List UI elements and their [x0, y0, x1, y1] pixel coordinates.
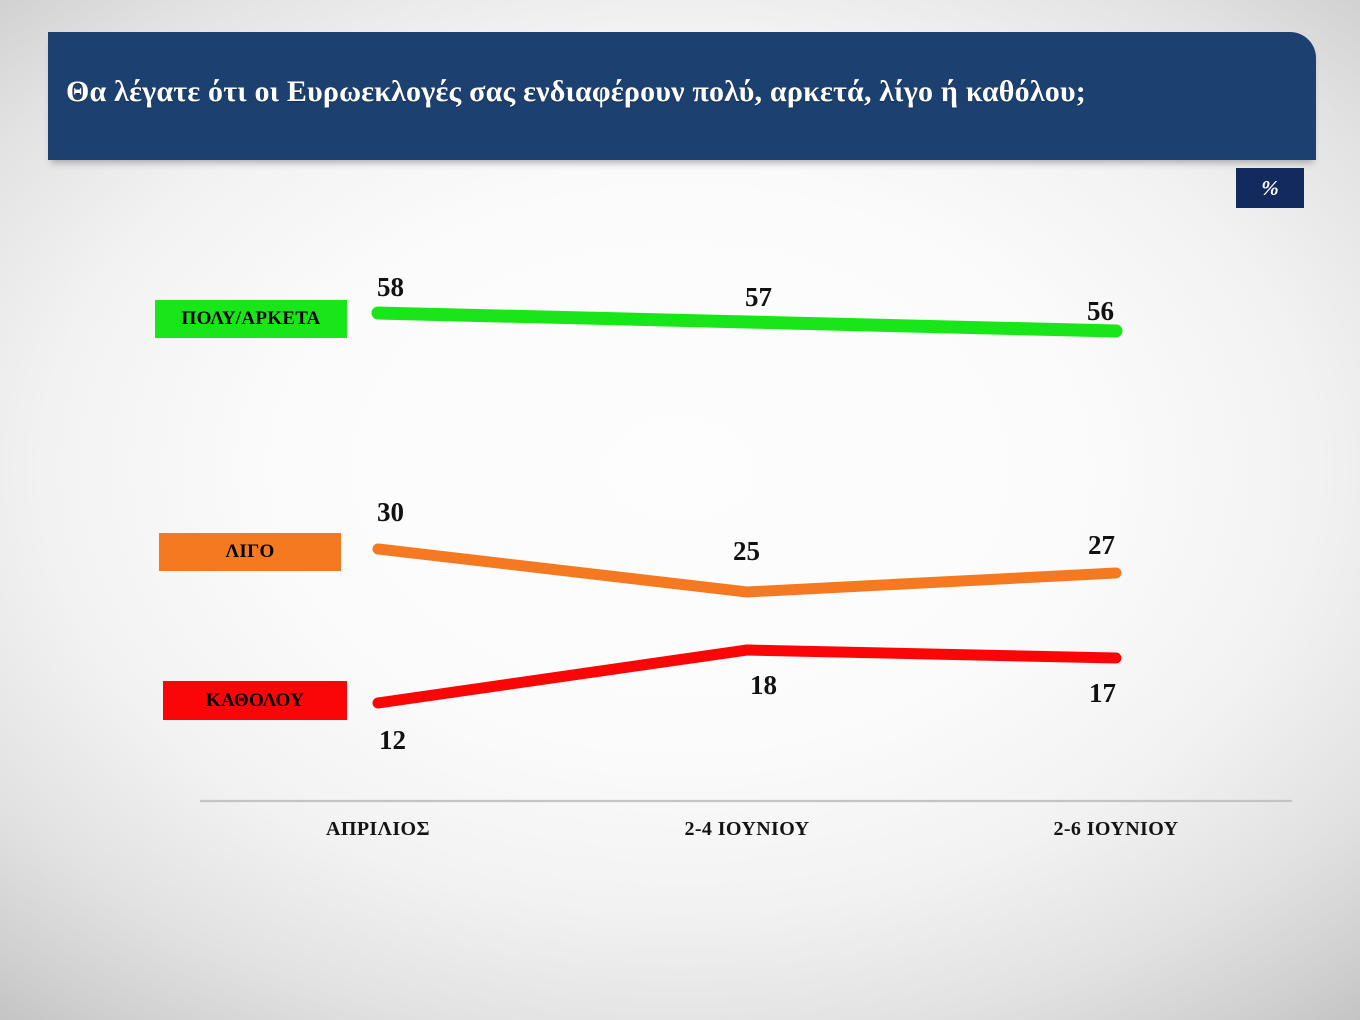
x-axis-tick-3: 2-6 ΙΟΥΝΙΟΥ [1016, 818, 1216, 841]
data-label-red-3: 17 [1089, 678, 1116, 709]
data-label-red-1: 12 [379, 725, 406, 756]
legend-item-ligo[interactable]: ΛΙΓΟ [159, 533, 341, 571]
data-label-green-1: 58 [377, 272, 404, 303]
data-label-orange-3: 27 [1088, 530, 1115, 561]
chart-svg [0, 0, 1360, 1020]
legend-item-katholou[interactable]: ΚΑΘΟΛΟΥ [163, 681, 347, 720]
x-axis-tick-1: ΑΠΡΙΛΙΟΣ [278, 818, 478, 841]
footer-bar: NEWS alco The pulse of society [0, 900, 1360, 1020]
slide-canvas: Θα λέγατε ότι οι Ευρωεκλογές σας ενδιαφέ… [0, 0, 1360, 1020]
data-label-orange-1: 30 [377, 497, 404, 528]
legend-item-poly-arketa[interactable]: ΠΟΛΥ/ΑΡΚΕΤΑ [155, 300, 347, 338]
data-label-green-2: 57 [745, 282, 772, 313]
data-label-red-2: 18 [750, 670, 777, 701]
chart-plot-area [0, 0, 1360, 1020]
series-line-katholou [378, 650, 1116, 703]
data-label-orange-2: 25 [733, 536, 760, 567]
series-line-poly-arketa [378, 313, 1116, 331]
x-axis-tick-2: 2-4 ΙΟΥΝΙΟΥ [647, 818, 847, 841]
data-label-green-3: 56 [1087, 296, 1114, 327]
